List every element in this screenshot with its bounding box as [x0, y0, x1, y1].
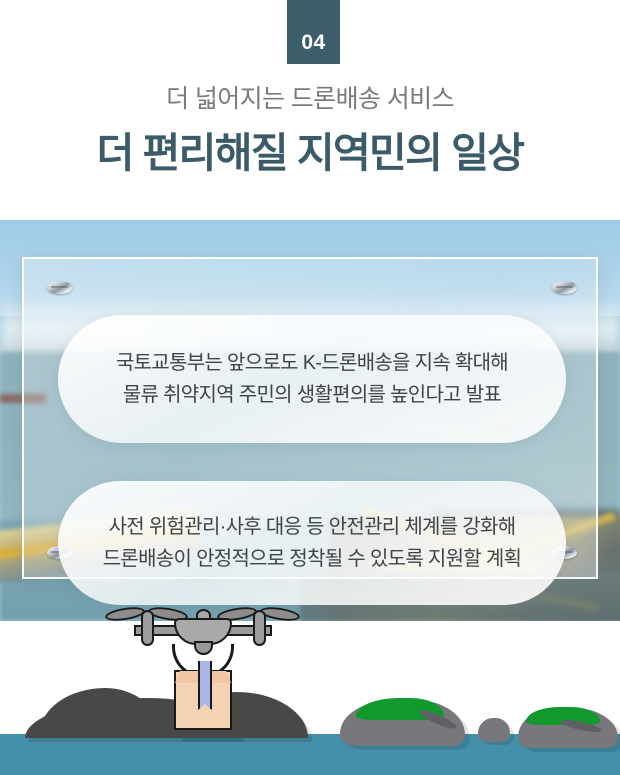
callout-line: 국토교통부는 앞으로도 K-드론배송을 지속 확대해: [116, 347, 508, 379]
drone-motor-left: [141, 610, 154, 646]
section-number-label: 04: [301, 31, 325, 55]
callout-bubble-1: 국토교통부는 앞으로도 K-드론배송을 지속 확대해 물류 취약지역 주민의 생…: [58, 315, 566, 443]
box-ribbon: [198, 661, 212, 695]
drone-motor-right: [253, 610, 266, 646]
callout-line: 사전 위험관리·사후 대응 등 안전관리 체계를 강화해: [109, 511, 516, 543]
box-ribbon-tail: [198, 695, 212, 710]
delivery-drone-icon: [118, 596, 288, 731]
section-number-badge: 04: [287, 0, 340, 64]
rock-gray-small: [478, 718, 510, 742]
package-box-icon: [174, 670, 232, 730]
infographic-page: 04 더 넓어지는 드론배송 서비스 더 편리해질 지역민의 일상: [0, 0, 620, 775]
callout-bubble-2: 사전 위험관리·사후 대응 등 안전관리 체계를 강화해 드론배송이 안정적으로…: [58, 481, 566, 605]
header-section: 04 더 넓어지는 드론배송 서비스 더 편리해질 지역민의 일상: [0, 0, 620, 220]
screw-icon: [47, 281, 72, 294]
callout-line: 물류 취약지역 주민의 생활편의를 높인다고 발표: [123, 379, 501, 411]
callout-line: 드론배송이 안정적으로 정착될 수 있도록 지원할 계획: [103, 543, 522, 575]
screw-icon: [552, 281, 577, 294]
page-subtitle: 더 넓어지는 드론배송 서비스: [0, 79, 620, 115]
photo-background: 국토교통부는 앞으로도 K-드론배송을 지속 확대해 물류 취약지역 주민의 생…: [0, 220, 620, 621]
glass-panel: 국토교통부는 앞으로도 K-드론배송을 지속 확대해 물류 취약지역 주민의 생…: [22, 257, 598, 579]
page-title: 더 편리해질 지역민의 일상: [0, 119, 620, 179]
